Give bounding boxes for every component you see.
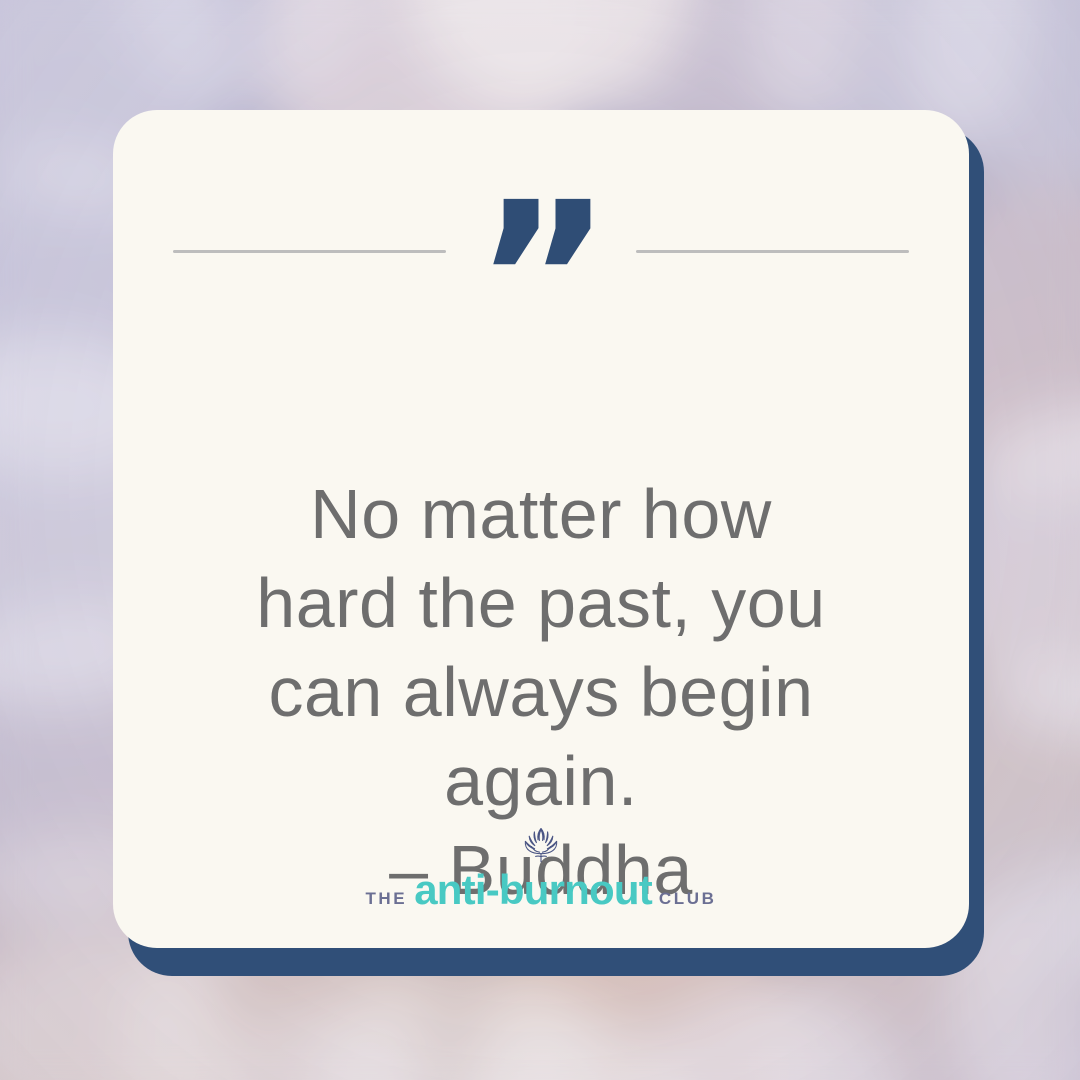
brand-suffix: CLUB: [659, 889, 717, 909]
lotus-flower-icon: [518, 822, 564, 864]
brand-prefix: THE: [365, 889, 407, 909]
brand-logo[interactable]: THE anti-burnout CLUB: [113, 822, 969, 914]
brand-wordmark: THE anti-burnout CLUB: [365, 866, 716, 914]
divider-rule-left: [173, 250, 446, 253]
quote-card: ” No matter how hard the past, you can a…: [113, 110, 969, 948]
brand-name: anti-burnout: [414, 866, 652, 914]
divider-rule-right: [636, 250, 909, 253]
quote-divider-row: ”: [173, 250, 909, 253]
quote-graphic-canvas: ” No matter how hard the past, you can a…: [0, 0, 1080, 1080]
